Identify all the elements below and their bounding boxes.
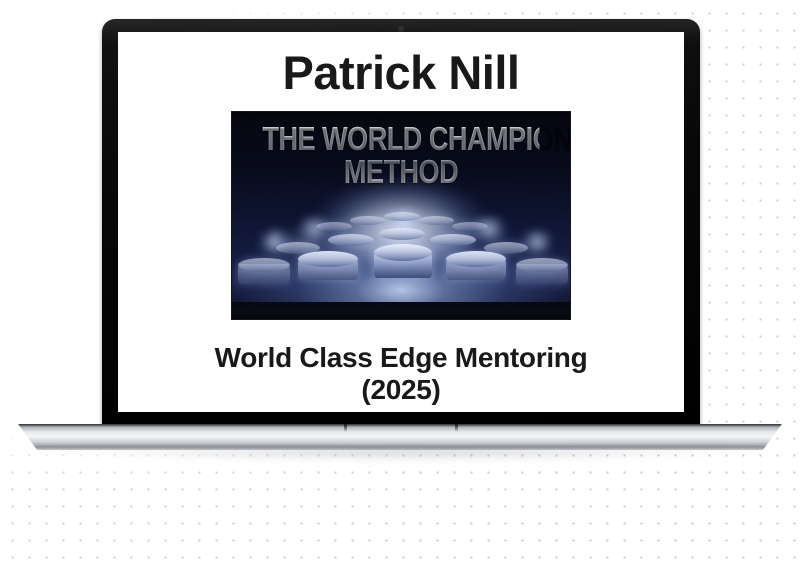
webcam-icon bbox=[399, 27, 403, 31]
laptop-base bbox=[18, 424, 782, 450]
promo-graphic: Patrick Nill bbox=[0, 0, 800, 567]
base-lip bbox=[18, 424, 782, 427]
cover-title: THE WORLD CHAMPION METHOD bbox=[262, 123, 539, 188]
laptop-shadow bbox=[60, 449, 750, 462]
author-name: Patrick Nill bbox=[283, 48, 520, 97]
laptop-screen-bezel: Patrick Nill bbox=[102, 19, 700, 427]
cover-letterbox-bottom bbox=[232, 302, 570, 319]
laptop-display: Patrick Nill bbox=[118, 32, 684, 412]
hinge-notch-left bbox=[344, 424, 347, 432]
course-title-line-1: World Class Edge Mentoring bbox=[215, 342, 588, 373]
hinge-notch-right bbox=[455, 424, 458, 432]
course-title: World Class Edge Mentoring (2025) bbox=[118, 342, 684, 405]
cover-letterbox-top bbox=[232, 112, 570, 117]
course-cover-thumbnail[interactable]: THE WORLD CHAMPION METHOD bbox=[231, 111, 571, 320]
course-title-line-2: (2025) bbox=[118, 374, 684, 405]
cover-title-line-2: METHOD bbox=[262, 156, 539, 188]
laptop-mockup: Patrick Nill bbox=[0, 0, 800, 480]
